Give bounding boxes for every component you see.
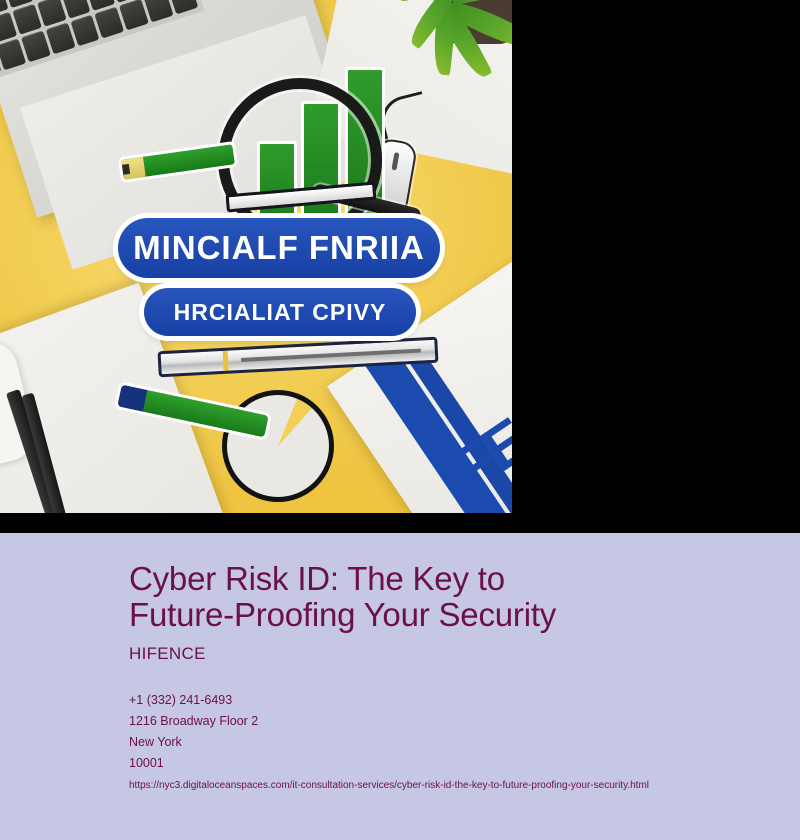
hero-subheadline-text: HRCIALIAT CPIVY (174, 299, 387, 326)
hero-headline-banner: MINCIALF FNRIIA (118, 218, 440, 278)
content-panel: Cyber Risk ID: The Key to Future-Proofin… (0, 533, 800, 840)
black-right-margin (512, 0, 800, 513)
keyboard-key (169, 0, 199, 14)
keyboard-key (46, 23, 76, 54)
contact-phone[interactable]: +1 (332) 241-6493 (129, 690, 800, 711)
keyboard-key (12, 4, 42, 35)
brand-name: HIFENCE (129, 644, 800, 664)
keyboard-key (37, 0, 67, 27)
article-url-link[interactable]: https://nyc3.digitaloceanspaces.com/it-c… (129, 780, 800, 791)
hero-headline-text: MINCIALF FNRIIA (133, 229, 425, 267)
hero-image: FE (0, 0, 512, 513)
pen-band (223, 351, 229, 371)
contact-city: New York (129, 732, 800, 753)
contact-postal-code: 10001 (129, 753, 800, 774)
pie-chart-graphic (222, 390, 334, 502)
black-separator-band (0, 513, 800, 533)
plant-decoration (392, 0, 512, 104)
keyboard-key (144, 0, 174, 22)
keyboard-key (119, 0, 149, 30)
pencil-lead (122, 164, 130, 175)
pen-highlight (241, 349, 421, 362)
keyboard-key (70, 15, 100, 46)
page-title: Cyber Risk ID: The Key to Future-Proofin… (129, 561, 599, 632)
contact-address-line: 1216 Broadway Floor 2 (129, 711, 800, 732)
hero-subheadline-banner: HRCIALIAT CPIVY (144, 288, 416, 336)
mouse-scroll-wheel (391, 152, 399, 171)
hero-illustration-canvas: FE (0, 0, 512, 513)
keyboard-key (95, 7, 125, 38)
keyboard-key (21, 31, 51, 62)
contact-block: +1 (332) 241-6493 1216 Broadway Floor 2 … (129, 690, 800, 791)
content-inner: Cyber Risk ID: The Key to Future-Proofin… (0, 533, 800, 791)
page-root: FE (0, 0, 800, 840)
